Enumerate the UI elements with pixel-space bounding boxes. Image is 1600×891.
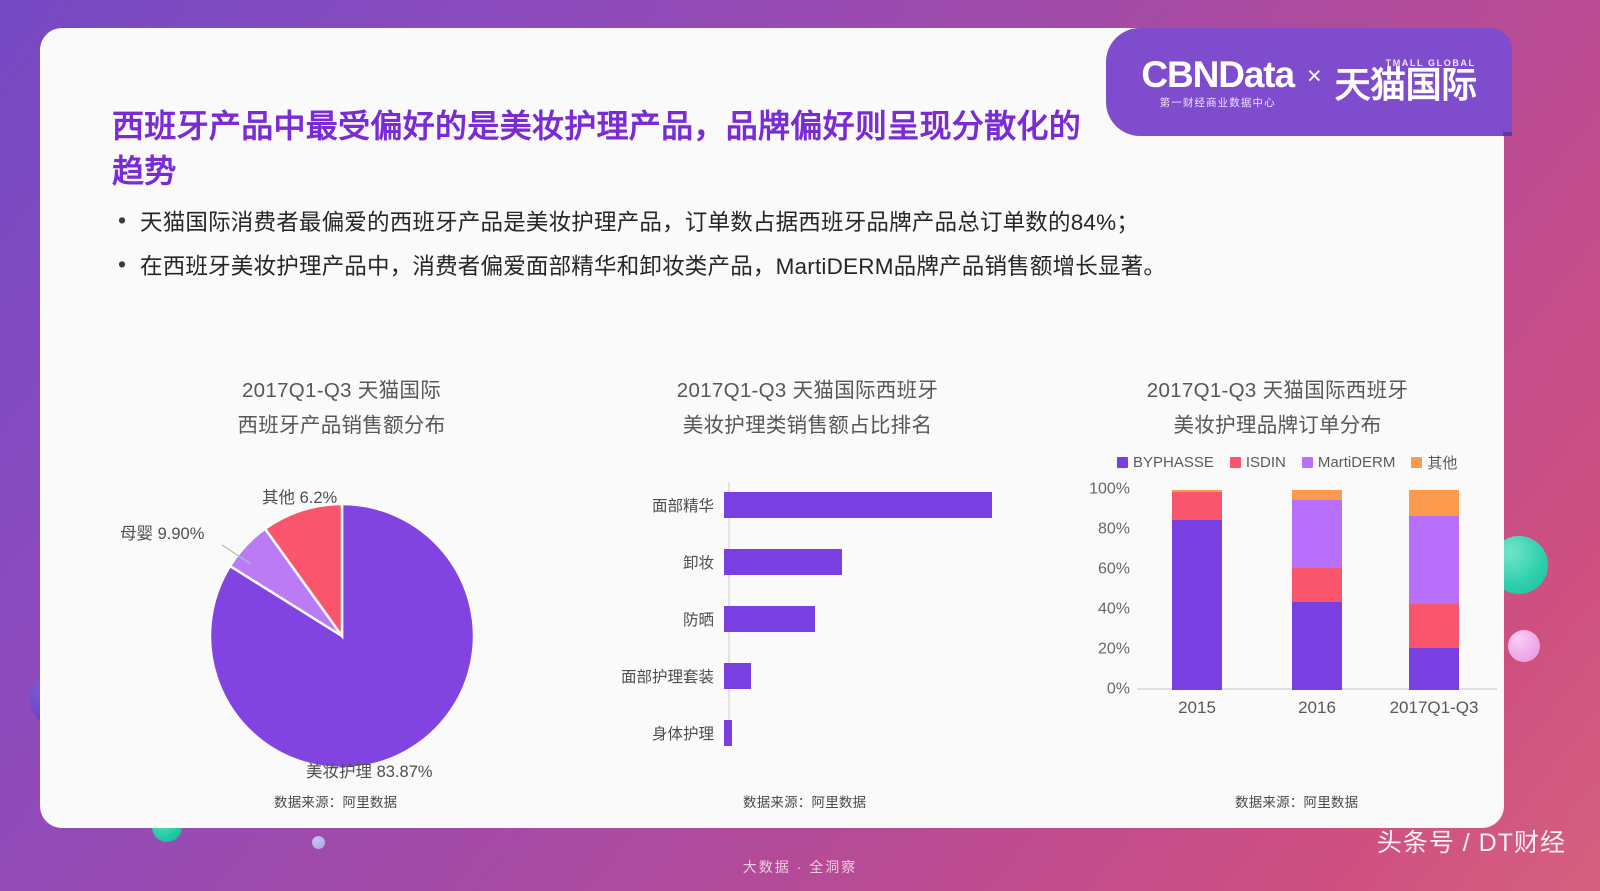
bar-fill bbox=[724, 663, 751, 689]
x-axis-tick-label: 2017Q1-Q3 bbox=[1390, 698, 1479, 718]
legend-item-其他[interactable]: 其他 bbox=[1411, 452, 1457, 473]
legend-label: 其他 bbox=[1427, 452, 1457, 473]
decorative-circle-pink bbox=[1508, 630, 1540, 662]
bar-category-label: 面部护理套装 bbox=[580, 665, 724, 687]
bar-fill bbox=[724, 720, 732, 746]
horizontal-bar-chart: 面部精华卸妆防晒面部护理套装身体护理 bbox=[580, 482, 1035, 782]
legend-item-martiderm[interactable]: MartiDERM bbox=[1302, 454, 1396, 471]
bullet-item: • 在西班牙美妆护理产品中，消费者偏爱面部精华和卸妆类产品，MartiDERM品… bbox=[114, 252, 1434, 282]
stacked-bar-column bbox=[1172, 490, 1222, 690]
bar-fill bbox=[724, 492, 992, 518]
bullet-marker-icon: • bbox=[114, 208, 140, 233]
legend-label: BYPHASSE bbox=[1133, 454, 1214, 471]
tmall-global-logo: TMALL GLOBAL 天猫国际 bbox=[1335, 61, 1477, 103]
legend-swatch-icon bbox=[1230, 457, 1241, 468]
stacked-bar-column bbox=[1409, 490, 1459, 690]
chart-title-line2: 西班牙产品销售额分布 bbox=[114, 408, 569, 443]
cbndata-subtitle: 第一财经商业数据中心 bbox=[1141, 98, 1294, 109]
decorative-dot-lavender bbox=[312, 836, 325, 849]
chart-title: 2017Q1-Q3 天猫国际 西班牙产品销售额分布 bbox=[114, 373, 569, 444]
y-axis-tick-label: 40% bbox=[1098, 600, 1130, 618]
pie-chart: 其他 6.2% 母婴 9.90% 美妆护理 83.87% bbox=[114, 464, 569, 794]
stacked-bar-segment-其他 bbox=[1409, 490, 1459, 516]
page-title: 西班牙产品中最受偏好的是美妆护理产品，品牌偏好则呈现分散化的趋势 bbox=[112, 104, 1112, 195]
stacked-bar-segment-byphasse bbox=[1409, 648, 1459, 690]
cbndata-wordmark: CBNData bbox=[1141, 56, 1294, 93]
y-axis-tick-label: 100% bbox=[1089, 480, 1130, 498]
bar-fill bbox=[724, 606, 815, 632]
stacked-bar-chart: BYPHASSEISDINMartiDERM其他 100%80%60%40%20… bbox=[1045, 452, 1510, 752]
bar-row: 身体护理 bbox=[580, 718, 1035, 748]
y-axis-tick-label: 80% bbox=[1098, 520, 1130, 538]
tmall-global-english-label: TMALL GLOBAL bbox=[1386, 58, 1476, 68]
bullet-marker-icon: • bbox=[114, 252, 140, 277]
slide-card: CBNData 第一财经商业数据中心 × TMALL GLOBAL 天猫国际 西… bbox=[40, 28, 1504, 828]
stacked-bar-column bbox=[1292, 490, 1342, 690]
pie-slice-label-beauty: 美妆护理 83.87% bbox=[306, 758, 433, 782]
chart-title-line1: 2017Q1-Q3 天猫国际西班牙 bbox=[1045, 373, 1510, 408]
tmall-wordmark: 天猫国际 bbox=[1335, 67, 1477, 103]
multiply-icon: × bbox=[1307, 62, 1322, 102]
x-axis-tick-label: 2016 bbox=[1298, 698, 1336, 718]
legend-label: MartiDERM bbox=[1318, 454, 1396, 471]
chart-panel-sales-distribution: 2017Q1-Q3 天猫国际 西班牙产品销售额分布 其他 6.2% 母婴 9.9… bbox=[114, 373, 569, 794]
chart-legend: BYPHASSEISDINMartiDERM其他 bbox=[1117, 452, 1507, 473]
y-axis-tick-label: 20% bbox=[1098, 640, 1130, 658]
bullet-list: • 天猫国际消费者最偏爱的西班牙产品是美妆护理产品，订单数占据西班牙品牌产品总订… bbox=[114, 208, 1434, 295]
stacked-bar-segment-martiderm bbox=[1409, 516, 1459, 604]
chart-title: 2017Q1-Q3 天猫国际西班牙 美妆护理品牌订单分布 bbox=[1045, 373, 1510, 444]
pie-slice-label-baby: 母婴 9.90% bbox=[120, 520, 204, 544]
stacked-bar-segment-martiderm bbox=[1292, 500, 1342, 568]
bar-fill bbox=[724, 549, 842, 575]
chart-title-line1: 2017Q1-Q3 天猫国际 bbox=[114, 373, 569, 408]
bar-category-label: 卸妆 bbox=[580, 551, 724, 573]
bar-category-label: 防晒 bbox=[580, 608, 724, 630]
stacked-bar-segment-isdin bbox=[1409, 604, 1459, 648]
chart-source-note: 数据来源：阿里数据 bbox=[743, 791, 866, 811]
chart-source-note: 数据来源：阿里数据 bbox=[1235, 791, 1358, 811]
chart-source-note: 数据来源：阿里数据 bbox=[274, 791, 397, 811]
y-axis-tick-label: 0% bbox=[1107, 680, 1130, 698]
bar-row: 面部护理套装 bbox=[580, 661, 1035, 691]
stacked-bar-segment-byphasse bbox=[1172, 520, 1222, 690]
chart-panel-brand-order-distribution: 2017Q1-Q3 天猫国际西班牙 美妆护理品牌订单分布 BYPHASSEISD… bbox=[1045, 373, 1510, 752]
pie-leader-line-baby bbox=[221, 542, 267, 568]
bullet-text: 天猫国际消费者最偏爱的西班牙产品是美妆护理产品，订单数占据西班牙品牌产品总订单数… bbox=[140, 208, 1139, 238]
chart-title-line1: 2017Q1-Q3 天猫国际西班牙 bbox=[580, 373, 1035, 408]
brand-header: CBNData 第一财经商业数据中心 × TMALL GLOBAL 天猫国际 bbox=[1106, 28, 1512, 136]
y-axis-tick-label: 60% bbox=[1098, 560, 1130, 578]
chart-title-line2: 美妆护理品牌订单分布 bbox=[1045, 408, 1510, 443]
stacked-bar-plot-area: 100%80%60%40%20%0% 201520162017Q1-Q3 bbox=[1137, 490, 1497, 690]
watermark: 头条号 / DT财经 bbox=[1377, 823, 1566, 859]
bar-row: 卸妆 bbox=[580, 547, 1035, 577]
chart-title-line2: 美妆护理类销售额占比排名 bbox=[580, 408, 1035, 443]
bar-row: 防晒 bbox=[580, 604, 1035, 634]
bullet-text: 在西班牙美妆护理产品中，消费者偏爱面部精华和卸妆类产品，MartiDERM品牌产… bbox=[140, 252, 1166, 282]
chart-title: 2017Q1-Q3 天猫国际西班牙 美妆护理类销售额占比排名 bbox=[580, 373, 1035, 444]
legend-item-isdin[interactable]: ISDIN bbox=[1230, 454, 1286, 471]
stacked-bar-segment-isdin bbox=[1172, 492, 1222, 520]
legend-label: ISDIN bbox=[1246, 454, 1286, 471]
x-axis-tick-label: 2015 bbox=[1178, 698, 1216, 718]
bullet-item: • 天猫国际消费者最偏爱的西班牙产品是美妆护理产品，订单数占据西班牙品牌产品总订… bbox=[114, 208, 1434, 238]
bar-category-label: 面部精华 bbox=[580, 494, 724, 516]
stacked-bar-segment-isdin bbox=[1292, 568, 1342, 602]
chart-panel-category-ranking: 2017Q1-Q3 天猫国际西班牙 美妆护理类销售额占比排名 面部精华卸妆防晒面… bbox=[580, 373, 1035, 782]
legend-swatch-icon bbox=[1117, 457, 1128, 468]
legend-swatch-icon bbox=[1411, 457, 1422, 468]
cbndata-logo: CBNData 第一财经商业数据中心 bbox=[1141, 56, 1294, 109]
stacked-bar-segment-byphasse bbox=[1292, 602, 1342, 690]
slide-tagline: 大数据 · 全洞察 bbox=[0, 857, 1600, 877]
legend-item-byphasse[interactable]: BYPHASSE bbox=[1117, 454, 1214, 471]
pie-slice-label-other: 其他 6.2% bbox=[262, 484, 337, 508]
bar-category-label: 身体护理 bbox=[580, 722, 724, 744]
bar-row: 面部精华 bbox=[580, 490, 1035, 520]
stacked-bar-segment-其他 bbox=[1292, 490, 1342, 500]
legend-swatch-icon bbox=[1302, 457, 1313, 468]
